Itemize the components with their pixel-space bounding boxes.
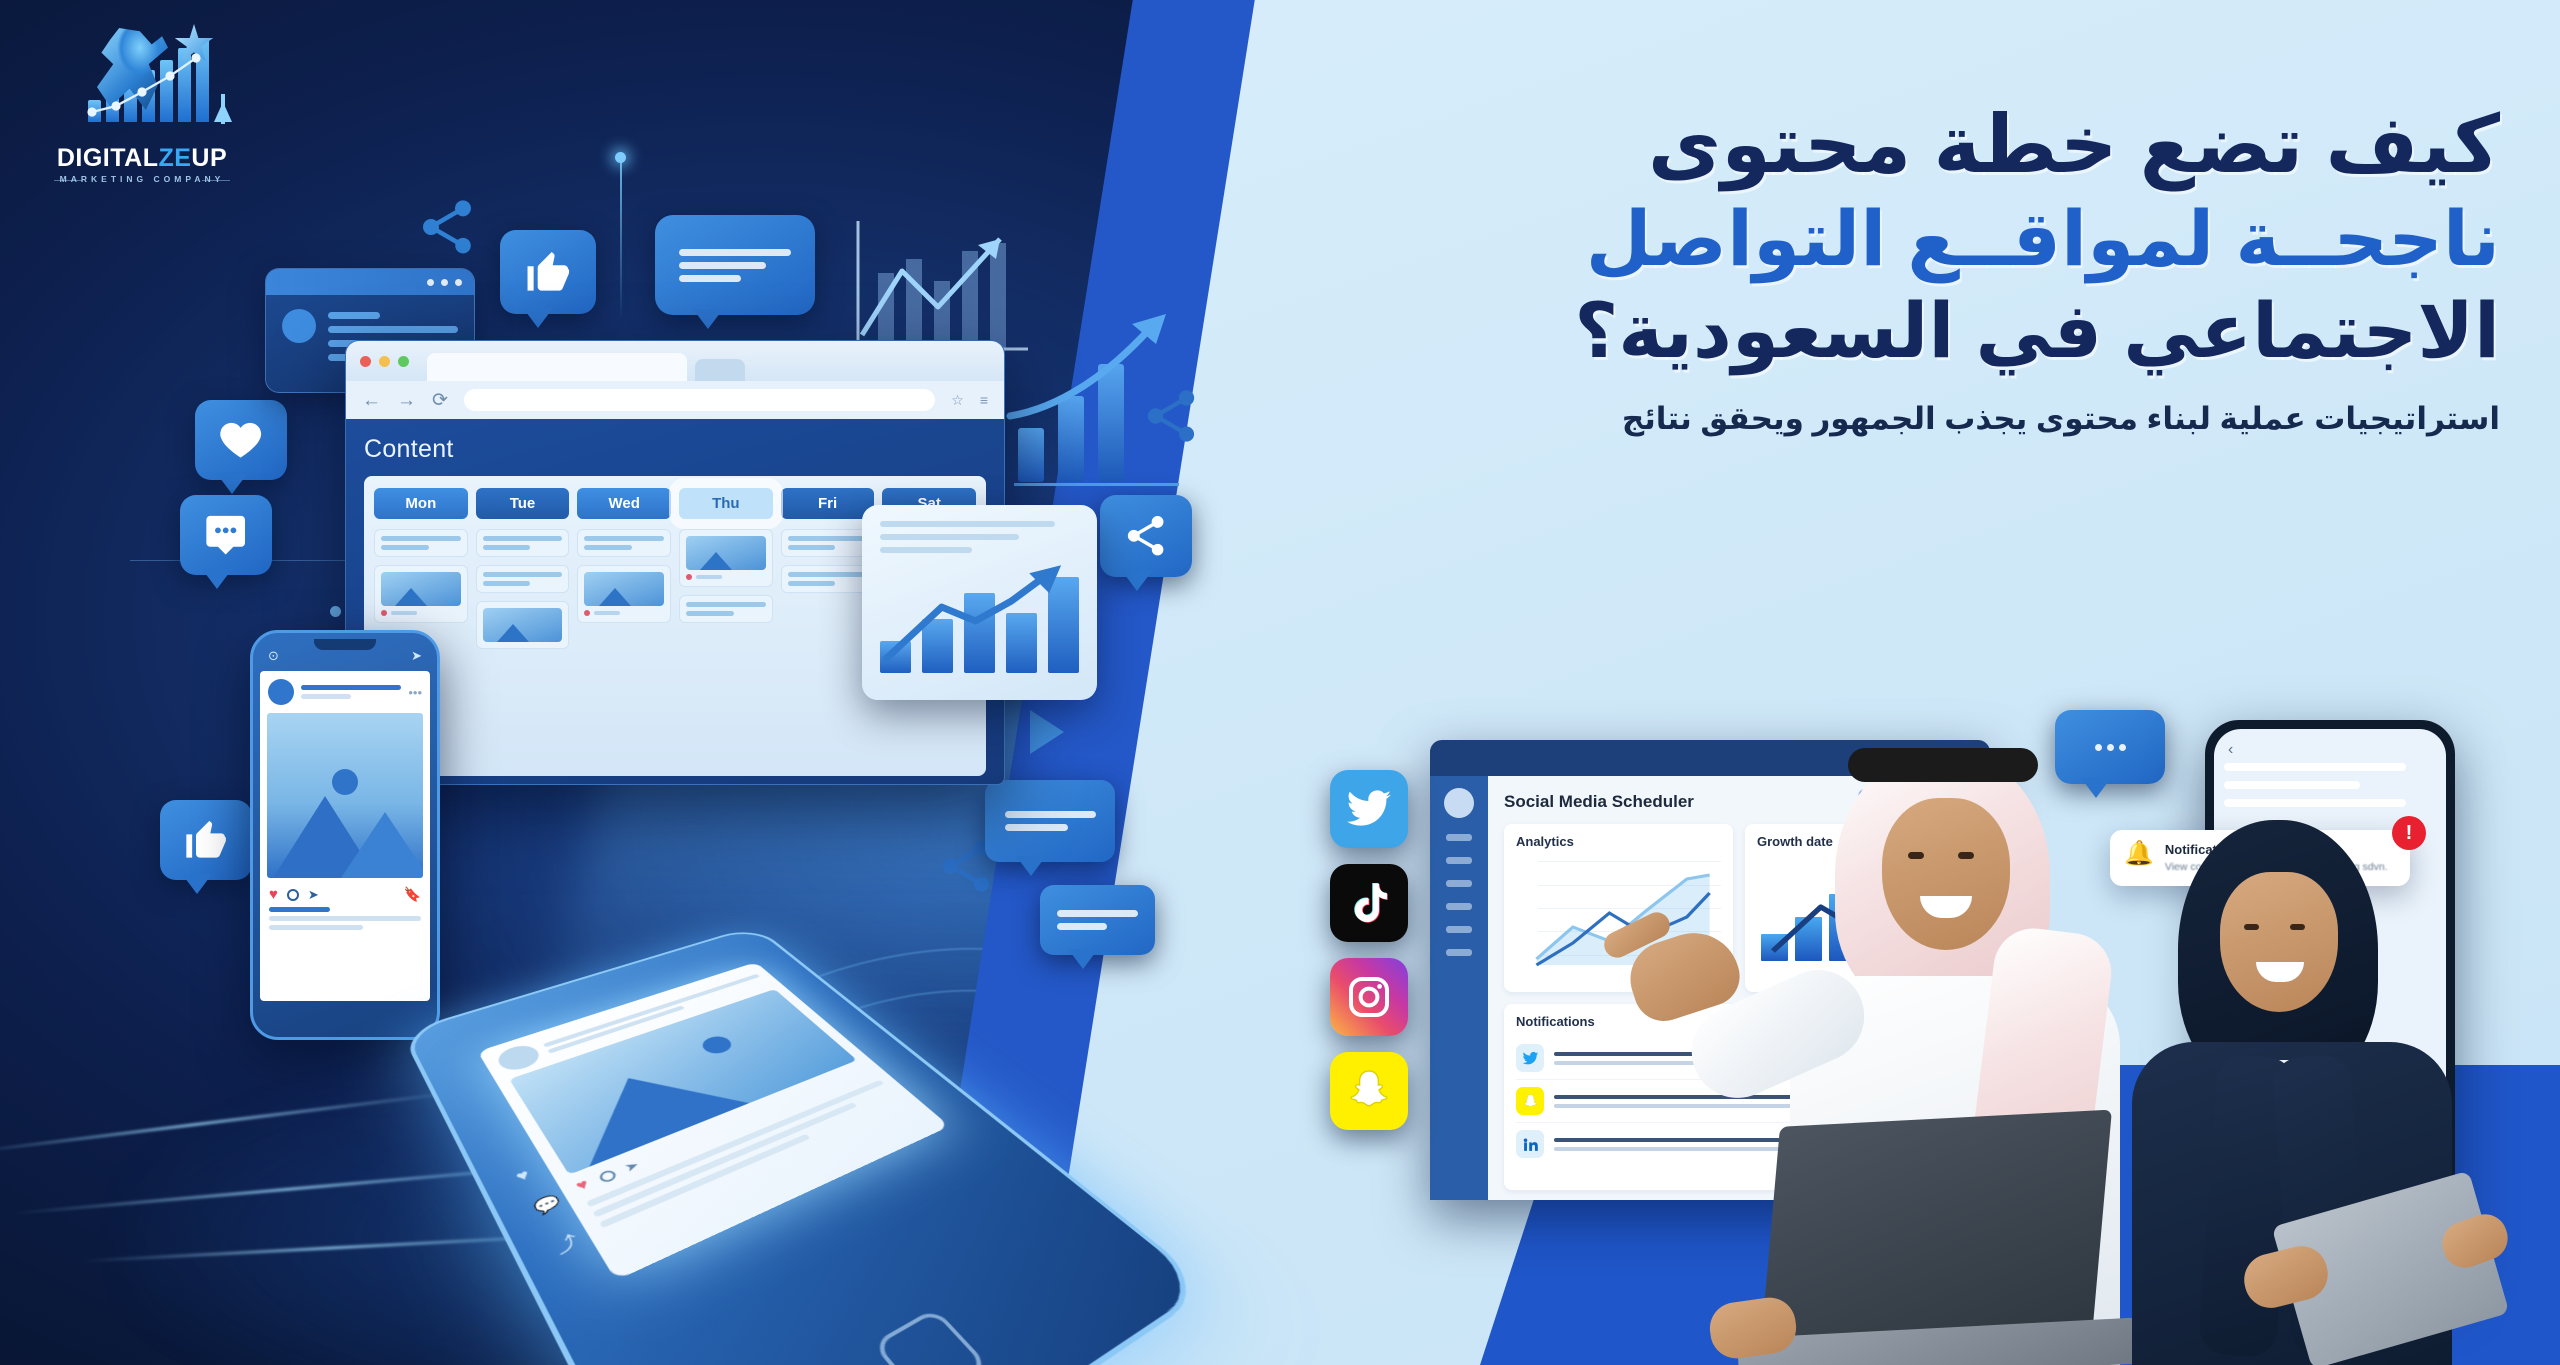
address-bar[interactable]	[464, 389, 935, 411]
sun-shape	[332, 769, 358, 795]
browser-chrome	[346, 341, 1004, 381]
logo-tagline: MARKETING COMPANY	[42, 174, 242, 184]
phone-notch	[314, 639, 376, 650]
share-icon[interactable]: ➤	[621, 1158, 642, 1175]
day-tab-mon[interactable]: Mon	[374, 488, 468, 519]
arrow-up-icon	[214, 102, 232, 122]
heart-icon[interactable]: ♥	[513, 1162, 546, 1186]
text-placeholder-lines	[1057, 910, 1138, 930]
sidebar-item[interactable]	[1446, 857, 1472, 864]
sidebar-item[interactable]	[1446, 949, 1472, 956]
phone-screen: ••• ♥ ➤ 🔖	[260, 671, 430, 1001]
instagram-icon[interactable]	[1330, 958, 1408, 1036]
avatar	[282, 309, 316, 343]
send-icon[interactable]: ➤	[411, 648, 422, 664]
tiktok-icon[interactable]	[1330, 864, 1408, 942]
post-card[interactable]	[374, 529, 468, 557]
twitter-icon[interactable]	[1330, 770, 1408, 848]
placeholder-line	[2224, 799, 2406, 807]
eye	[2290, 924, 2305, 930]
heart-icon[interactable]: ♥	[269, 886, 278, 903]
card-titlebar	[266, 269, 474, 295]
logo-word-a: DIGITAL	[57, 144, 159, 172]
heart-icon[interactable]: ♥	[573, 1177, 592, 1195]
glow-node	[615, 152, 626, 163]
post-card[interactable]	[781, 529, 875, 557]
growth-arrow-icon	[880, 561, 1079, 673]
twitter-icon	[1516, 1044, 1544, 1072]
linkedin-icon	[1516, 1130, 1544, 1158]
post-actions: ♥ ➤ 🔖	[260, 878, 430, 907]
comment-dots-icon	[180, 495, 272, 575]
play-icon	[1030, 710, 1064, 754]
logo-wordmark: DIGITALZEUP	[42, 146, 242, 171]
share-icon	[415, 195, 479, 259]
placeholder-line	[880, 534, 1019, 540]
thumbs-up-icon	[500, 230, 596, 314]
mountain-shape	[341, 812, 423, 878]
post-image	[267, 713, 423, 878]
post-header: •••	[260, 671, 430, 713]
logo-mark	[42, 18, 242, 146]
sidebar-item[interactable]	[1446, 880, 1472, 887]
headline-subtitle: استراتيجيات عملية لبناء محتوى يجذب الجمه…	[1380, 401, 2500, 437]
phone-mock-left[interactable]: ⊙ ➤ ••• ♥ ➤ 🔖	[250, 630, 440, 1040]
sun-shape	[698, 1033, 736, 1056]
comment-icon[interactable]: 💬	[530, 1192, 564, 1218]
headline-line-3: الاجتماعي في السعودية؟	[1380, 286, 2500, 379]
heart-icon	[195, 400, 287, 480]
reload-icon[interactable]: ⟳	[432, 391, 448, 410]
post-card[interactable]	[374, 565, 468, 623]
growth-chart-card	[862, 505, 1097, 700]
snapchat-icon	[1516, 1087, 1544, 1115]
share-icon	[1100, 495, 1192, 577]
comment-bubble-card	[985, 780, 1115, 862]
brand-logo[interactable]: DIGITALZEUP MARKETING COMPANY	[42, 18, 242, 198]
eye	[1958, 852, 1974, 859]
post-card[interactable]	[679, 595, 773, 623]
logo-word-c: UP	[191, 144, 227, 172]
agal-cord	[1848, 748, 2038, 782]
headline-line-2: ناجحــة لمواقــع التواصل	[1380, 194, 2500, 287]
share-icon[interactable]: ⤴	[549, 1225, 587, 1258]
dashboard-sidebar	[1430, 776, 1488, 1200]
post-card[interactable]	[476, 601, 570, 649]
avatar[interactable]	[1444, 788, 1474, 818]
growth-arrow-icon	[1004, 304, 1194, 434]
placeholder-line	[2224, 781, 2360, 789]
social-icon-stack	[1330, 770, 1408, 1130]
comment-bubble-card	[655, 215, 815, 315]
post-card[interactable]	[476, 565, 570, 593]
face	[1882, 798, 2010, 950]
snapchat-icon[interactable]	[1330, 1052, 1408, 1130]
logo-word-b: ZE	[158, 144, 191, 172]
forward-icon[interactable]: →	[397, 391, 416, 410]
thumbs-up-icon	[160, 800, 252, 880]
eye	[2244, 924, 2259, 930]
post-card[interactable]	[476, 529, 570, 557]
menu-icon[interactable]: ≡	[980, 392, 988, 408]
comment-icon[interactable]	[287, 889, 299, 901]
avatar	[268, 679, 294, 705]
text-placeholder-lines	[679, 249, 791, 282]
post-caption	[260, 907, 430, 938]
logo-trend-line	[86, 48, 218, 124]
more-options-icon[interactable]: •••	[408, 685, 422, 700]
post-card[interactable]	[679, 529, 773, 587]
placeholder-line	[2224, 763, 2406, 771]
sidebar-item[interactable]	[1446, 834, 1472, 841]
text-placeholder-lines	[1005, 811, 1096, 831]
share-icon[interactable]: ➤	[308, 887, 319, 903]
eye	[1908, 852, 1924, 859]
sidebar-item[interactable]	[1446, 903, 1472, 910]
back-icon[interactable]: ←	[362, 391, 381, 410]
growth-chart-plot	[880, 561, 1079, 673]
day-tab-thu[interactable]: Thu	[679, 488, 773, 519]
window-maximize-button[interactable]	[398, 356, 409, 367]
glow-pin-line	[620, 160, 622, 320]
bookmark-icon[interactable]: ☆	[951, 392, 964, 409]
face	[2220, 872, 2338, 1012]
browser-tab-active[interactable]	[427, 353, 687, 381]
bookmark-icon[interactable]: 🔖	[404, 886, 421, 903]
post-card[interactable]	[577, 565, 671, 623]
comment-bubble-card	[1040, 885, 1155, 955]
bar-chart-axis	[1014, 483, 1179, 486]
profile-icon[interactable]: ⊙	[268, 648, 279, 664]
calendar-column	[476, 529, 570, 649]
headline-line-1: كيف تضع خطة محتوى	[1380, 96, 2500, 194]
post-card[interactable]	[577, 529, 671, 557]
placeholder-line	[880, 521, 1055, 527]
back-icon[interactable]: ‹	[2228, 741, 2233, 759]
day-tab-wed[interactable]: Wed	[577, 488, 671, 519]
placeholder-line	[880, 547, 972, 553]
text-placeholder-lines	[301, 685, 401, 699]
bar-chart-icon	[1010, 330, 1185, 500]
day-tab-fri[interactable]: Fri	[781, 488, 875, 519]
browser-tab-new[interactable]	[695, 359, 745, 381]
window-minimize-button[interactable]	[379, 356, 390, 367]
post-card[interactable]	[781, 565, 875, 593]
window-close-button[interactable]	[360, 356, 371, 367]
calendar-column	[781, 529, 875, 649]
sidebar-item[interactable]	[1446, 926, 1472, 933]
headline-block: كيف تضع خطة محتوى ناجحــة لمواقــع التوا…	[1380, 96, 2500, 437]
glow-node	[330, 606, 341, 617]
home-indicator[interactable]	[872, 1308, 990, 1365]
calendar-column	[679, 529, 773, 649]
calendar-column	[577, 529, 671, 649]
marketing-banner: DIGITALZEUP MARKETING COMPANY	[0, 0, 2560, 1365]
day-tab-tue[interactable]: Tue	[476, 488, 570, 519]
page-title: Content	[364, 435, 986, 464]
browser-toolbar: ← → ⟳ ☆ ≡	[346, 381, 1004, 419]
person-woman-holding-tablet	[2060, 820, 2500, 1365]
comment-icon[interactable]	[597, 1168, 618, 1183]
